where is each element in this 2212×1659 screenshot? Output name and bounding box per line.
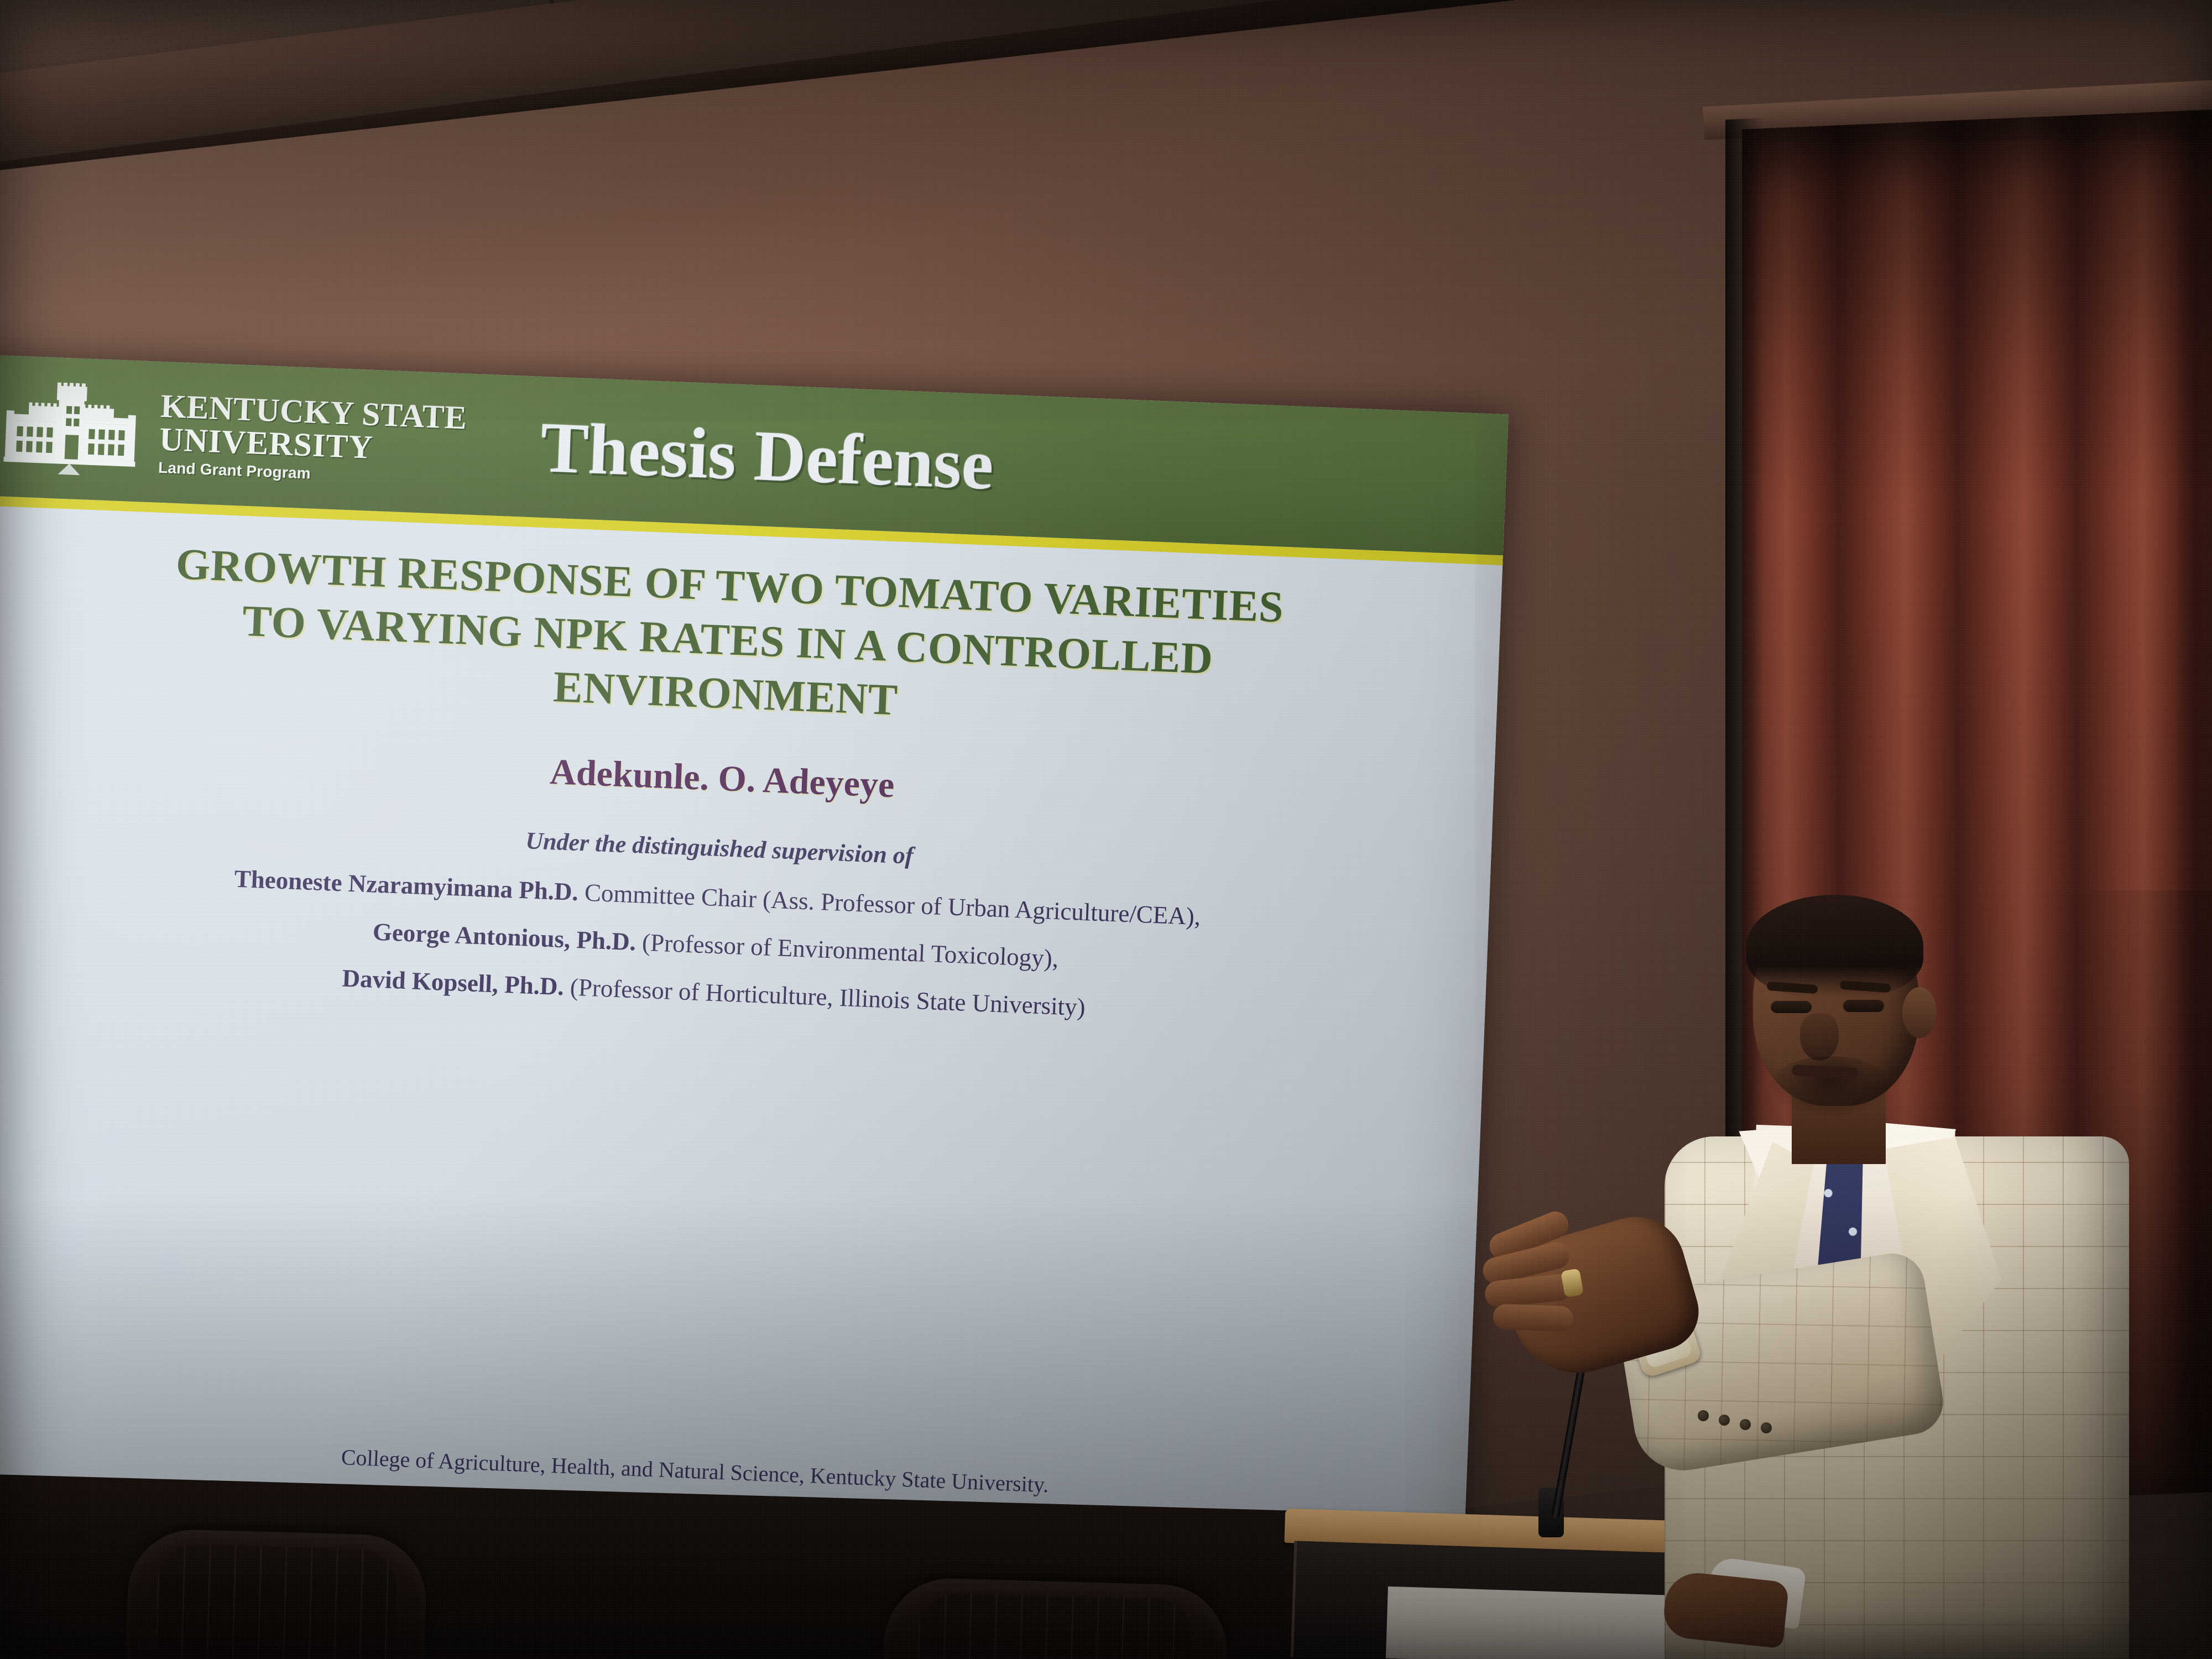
auditorium-seat [124, 1528, 428, 1659]
seat-tufting [155, 1543, 398, 1659]
beard [1770, 1056, 1891, 1117]
eye-right [1843, 1000, 1884, 1012]
committee-member-role: Committee Chair (Ass. Professor of Urban… [584, 878, 1201, 930]
photo-scene: KENTUCKY STATE UNIVERSITY Land Grant Pro… [0, 0, 2212, 1659]
ear [1902, 987, 1937, 1038]
committee-member-role: (Professor of Environmental Toxicology), [641, 928, 1059, 973]
auditorium-seat [881, 1577, 1229, 1659]
university-logo: KENTUCKY STATE UNIVERSITY Land Grant Pro… [0, 379, 468, 491]
castle-icon [0, 379, 147, 478]
committee-member-name: George Antonious, Ph.D. [372, 918, 637, 956]
committee-member-name: David Kopsell, Ph.D. [342, 964, 565, 1001]
seat-tufting [917, 1592, 1194, 1659]
slide: KENTUCKY STATE UNIVERSITY Land Grant Pro… [0, 354, 1509, 1608]
presenter [1571, 890, 2212, 1659]
committee-member-role: (Professor of Horticulture, Illinois Sta… [570, 973, 1086, 1021]
slide-header-title: Thesis Defense [539, 405, 995, 506]
cuff-button [1698, 1410, 1709, 1421]
university-name: KENTUCKY STATE UNIVERSITY Land Grant Pro… [158, 389, 468, 487]
nose [1800, 1013, 1839, 1061]
committee-member-name: Theoneste Nzaramyimana Ph.D. [234, 865, 579, 906]
resting-hand [1661, 1570, 1789, 1648]
cuff-button [1761, 1422, 1772, 1433]
projection-screen: KENTUCKY STATE UNIVERSITY Land Grant Pro… [0, 354, 1509, 1608]
cuff-button [1740, 1419, 1751, 1430]
slide-main-title: GROWTH RESPONSE OF TWO TOMATO VARIETIES … [0, 530, 1468, 750]
finger [1493, 1303, 1574, 1332]
cuff-button [1719, 1415, 1730, 1426]
slide-body: GROWTH RESPONSE OF TWO TOMATO VARIETIES … [0, 505, 1503, 1608]
author-name: Adekunle. O. Adeyeye [0, 729, 1460, 829]
eye-left [1771, 1001, 1812, 1013]
